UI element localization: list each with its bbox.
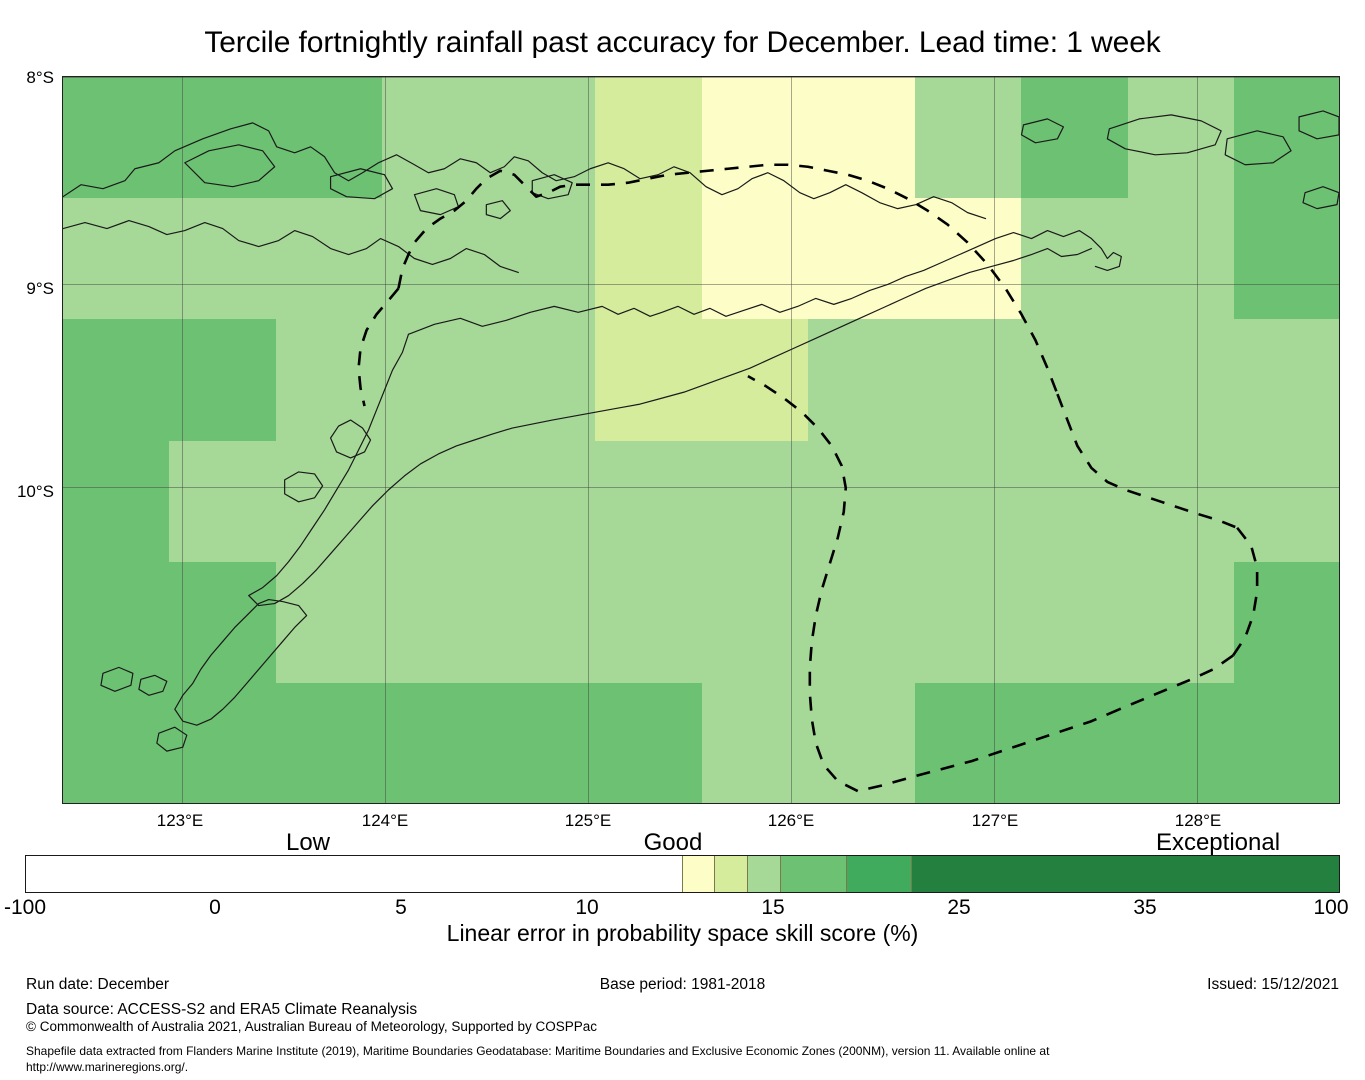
colorbar-segment[interactable] [748, 856, 781, 892]
colorbar-segment[interactable] [847, 856, 913, 892]
colorbar-tick-label: 15 [713, 896, 833, 919]
colorbar-segment[interactable] [781, 856, 847, 892]
footer-shapefile-attribution: Shapefile data extracted from Flanders M… [26, 1043, 1049, 1075]
colorbar-segment[interactable] [912, 856, 1339, 892]
x-tick-label: 128°E [1128, 812, 1268, 829]
colorbar-tick-label: 25 [899, 896, 1019, 919]
eez-boundary-dashed [359, 165, 1258, 791]
x-tick-label: 124°E [315, 812, 455, 829]
y-tick-label: 10°S [0, 483, 54, 500]
colorbar-axis-title: Linear error in probability space skill … [0, 920, 1365, 946]
colorbar-tick-label: 10 [527, 896, 647, 919]
map-vector-overlay [63, 77, 1339, 803]
figure-root: Tercile fortnightly rainfall past accura… [0, 0, 1365, 1080]
colorbar-qual-label-low: Low [158, 830, 458, 856]
coastline-paths [63, 111, 1339, 751]
colorbar-qual-label-exceptional: Exceptional [1068, 830, 1365, 856]
colorbar-qual-label-good: Good [523, 830, 823, 856]
x-tick-label: 126°E [721, 812, 861, 829]
colorbar-tick-label: -100 [0, 896, 85, 919]
footer-shapefile-line-2: http://www.marineregions.org/. [26, 1059, 1049, 1075]
chart-title: Tercile fortnightly rainfall past accura… [0, 26, 1365, 60]
colorbar-tick-label: 0 [155, 896, 275, 919]
colorbar-tick-label: 35 [1085, 896, 1205, 919]
x-tick-label: 127°E [925, 812, 1065, 829]
footer-data-source: Data source: ACCESS-S2 and ERA5 Climate … [26, 1000, 417, 1019]
colorbar-segment[interactable] [683, 856, 716, 892]
colorbar-tick-label: 100 [1271, 896, 1365, 919]
colorbar-segments[interactable] [25, 855, 1340, 893]
colorbar-tick-label: 5 [341, 896, 461, 919]
x-tick-label: 125°E [518, 812, 658, 829]
colorbar-segment[interactable] [715, 856, 748, 892]
footer-base-period: Base period: 1981-2018 [0, 975, 1365, 994]
x-tick-label: 123°E [110, 812, 250, 829]
footer-issued-date: Issued: 15/12/2021 [1207, 975, 1339, 994]
y-tick-label: 8°S [0, 69, 54, 86]
colorbar[interactable] [25, 855, 1340, 893]
y-tick-label: 9°S [0, 280, 54, 297]
footer-copyright: © Commonwealth of Australia 2021, Austra… [26, 1018, 597, 1035]
map-plot-area[interactable] [62, 76, 1340, 804]
footer-shapefile-line-1: Shapefile data extracted from Flanders M… [26, 1043, 1049, 1059]
colorbar-segment[interactable] [26, 856, 683, 892]
